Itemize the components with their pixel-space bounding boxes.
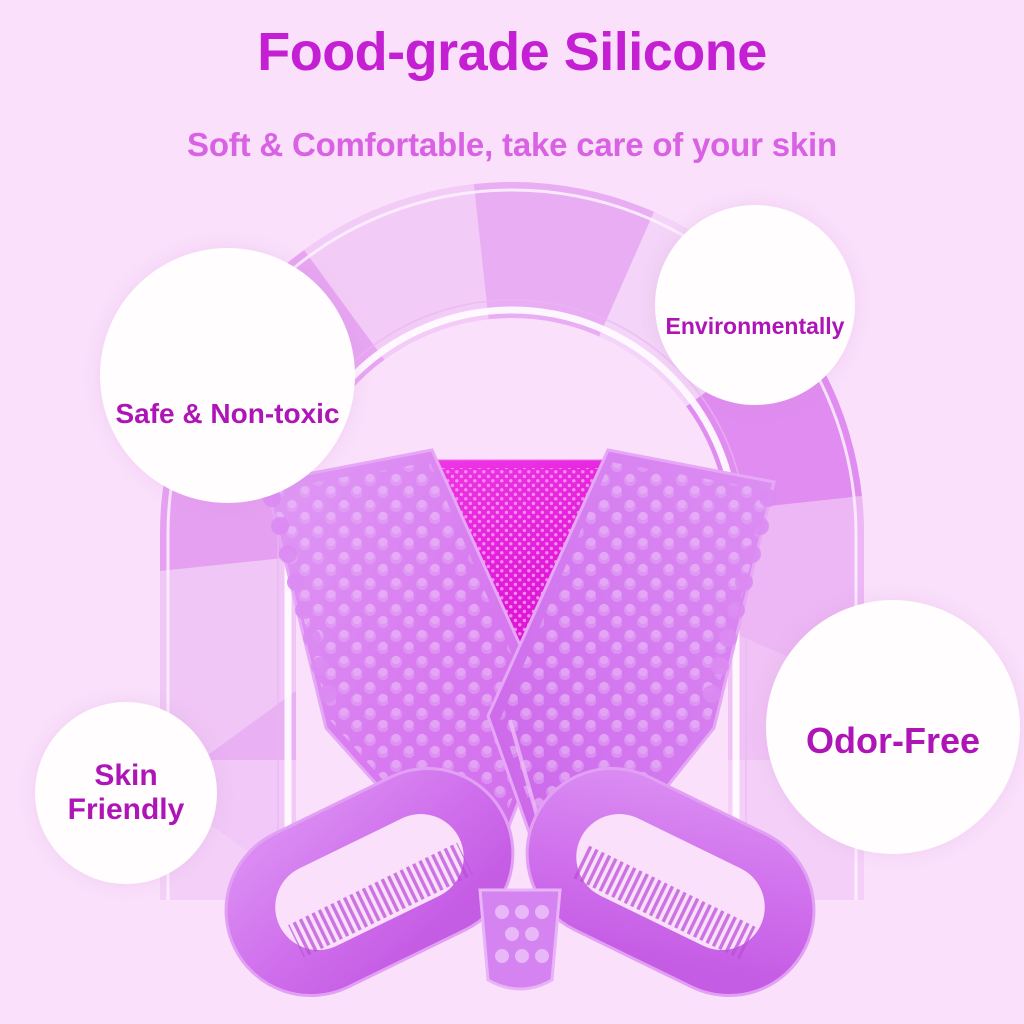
strap-lower-tongue: [480, 890, 560, 989]
feature-badge-skin-friendly-line2: Friendly: [68, 793, 185, 826]
marketing-graphic: Food-grade Silicone Soft & Comfortable, …: [0, 0, 1024, 1024]
feature-badge-skin-friendly-label: Skin Friendly: [41, 759, 211, 826]
feature-badge-skin-friendly[interactable]: Skin Friendly: [35, 702, 217, 884]
feature-badge-environmentally-label: Environmentally: [666, 314, 845, 340]
page-title: Food-grade Silicone: [0, 24, 1024, 81]
feature-badge-odor-free-label: Odor-Free: [806, 721, 980, 761]
product-illustration: [180, 420, 860, 1024]
feature-badge-environmentally[interactable]: Environmentally: [655, 205, 855, 405]
feature-badge-safe-non-toxic-label: Safe & Non-toxic: [115, 398, 339, 429]
feature-badge-skin-friendly-line1: Skin: [94, 759, 157, 792]
feature-badge-odor-free[interactable]: Odor-Free: [766, 600, 1020, 854]
feature-badge-safe-non-toxic[interactable]: Safe & Non-toxic: [100, 248, 355, 503]
page-subtitle: Soft & Comfortable, take care of your sk…: [0, 126, 1024, 164]
